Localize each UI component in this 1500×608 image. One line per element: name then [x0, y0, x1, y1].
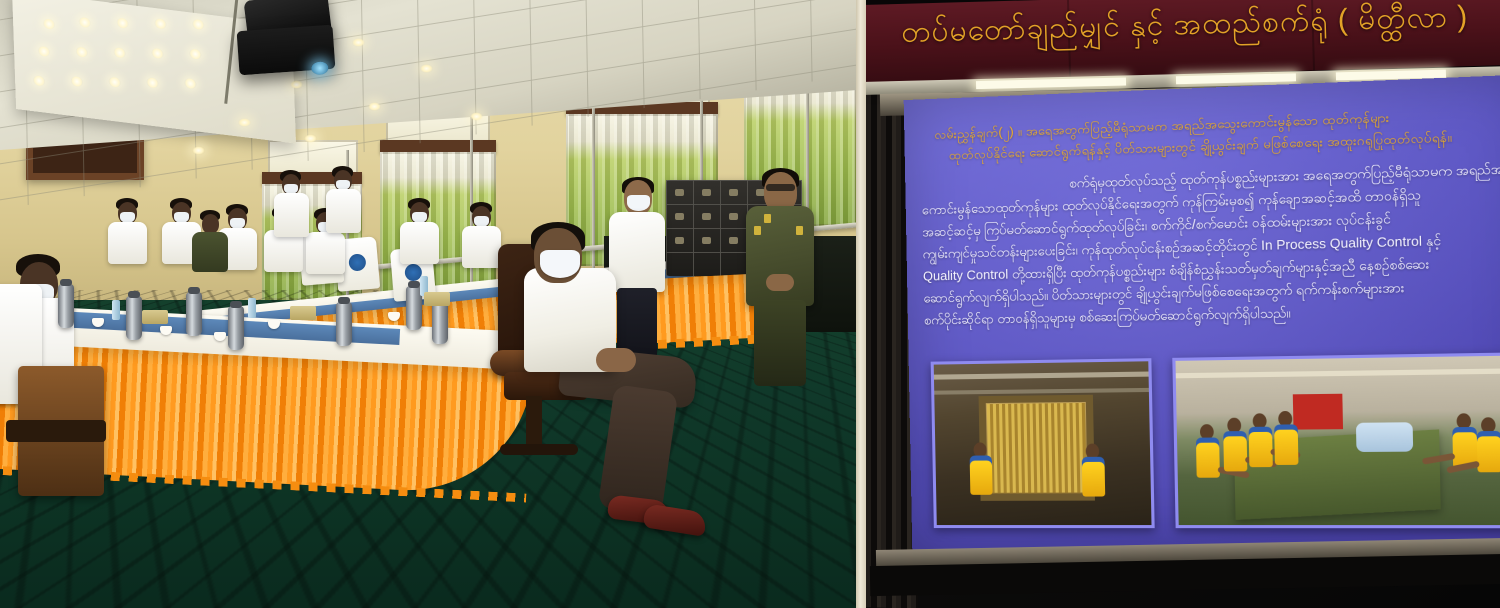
banner-text: တပ်မတော်ချည်မျှင် နှင့် အထည်စက်ရုံ ( မိတ… — [866, 0, 1500, 58]
principal-hands — [596, 348, 636, 372]
water-bottle — [112, 300, 120, 320]
tissue-box — [424, 292, 450, 306]
ceiling-downlight — [470, 112, 483, 121]
rack-item — [675, 237, 684, 244]
officer-uniform-trousers — [754, 300, 806, 386]
water-bottle — [248, 298, 256, 318]
rack-item — [729, 213, 738, 220]
officer-uniform-jacket — [746, 206, 814, 306]
ceiling-downlight — [238, 118, 251, 127]
civilian-face-mask — [627, 195, 650, 211]
light-tube — [1176, 73, 1296, 84]
projected-slide-photo: တပ်မတော်ချည်မျှင် နှင့် အထည်စက်ရုံ ( မိတ… — [866, 0, 1500, 608]
thermos-flask — [186, 292, 202, 336]
loom-warp-threads — [987, 403, 1087, 493]
thermos-flask — [432, 300, 448, 344]
slide-photo-inspection — [1172, 353, 1500, 529]
thermos-flask — [58, 284, 74, 328]
rack-item — [729, 237, 738, 244]
ceiling-projector — [237, 25, 336, 76]
rack-item — [729, 189, 738, 196]
rack-item — [702, 213, 711, 220]
tissue-box — [142, 310, 168, 324]
meeting-hall-photo — [0, 0, 856, 608]
wooden-chair-seat — [6, 420, 106, 442]
civilian-white-shirt — [609, 212, 665, 292]
slide-body-text: စက်ရုံမှထုတ်လုပ်သည့် ထုတ်ကုန်ပစ္စည်းများ… — [921, 157, 1500, 332]
rack-item — [702, 189, 711, 196]
weaving-loom — [979, 395, 1095, 501]
thermos-flask — [126, 296, 142, 340]
ceiling-downlight — [192, 146, 205, 155]
officer-eyeglasses — [766, 184, 795, 191]
screenshot-root: တပ်မတော်ချည်မျှင် နှင့် အထည်စက်ရုံ ( မိတ… — [0, 0, 1500, 608]
chair-column — [526, 396, 542, 450]
slide-photo-group — [931, 352, 1500, 528]
principal-face-mask — [540, 250, 580, 278]
supervisor-light-shirt — [1356, 422, 1413, 452]
officer-insignia — [796, 226, 803, 235]
officer-insignia — [754, 226, 761, 235]
tissue-box — [290, 306, 316, 320]
rack-item — [675, 213, 684, 220]
thermos-flask — [336, 302, 352, 346]
projection-screen: လမ်းညွှန်ချက်(၂) ။ အရေအတွက်ပြည့်မီရုံသာမ… — [904, 74, 1500, 554]
ceiling-downlight — [304, 134, 317, 143]
ceiling-downlight — [352, 38, 365, 47]
ceiling-downlight — [420, 64, 433, 73]
thermos-flask — [228, 306, 244, 350]
slide-photo-loom — [931, 358, 1155, 528]
rack-item — [675, 189, 684, 196]
ceiling-downlight — [368, 102, 381, 111]
ceiling-downlight — [290, 80, 303, 89]
panel-divider — [856, 0, 866, 608]
officer-insignia — [764, 214, 771, 223]
standing-military-officer — [740, 170, 820, 385]
chair-base — [500, 444, 578, 455]
rack-item — [702, 237, 711, 244]
red-wall-sign — [1293, 394, 1343, 430]
officer-hands — [766, 274, 794, 291]
light-tube — [976, 77, 1126, 89]
